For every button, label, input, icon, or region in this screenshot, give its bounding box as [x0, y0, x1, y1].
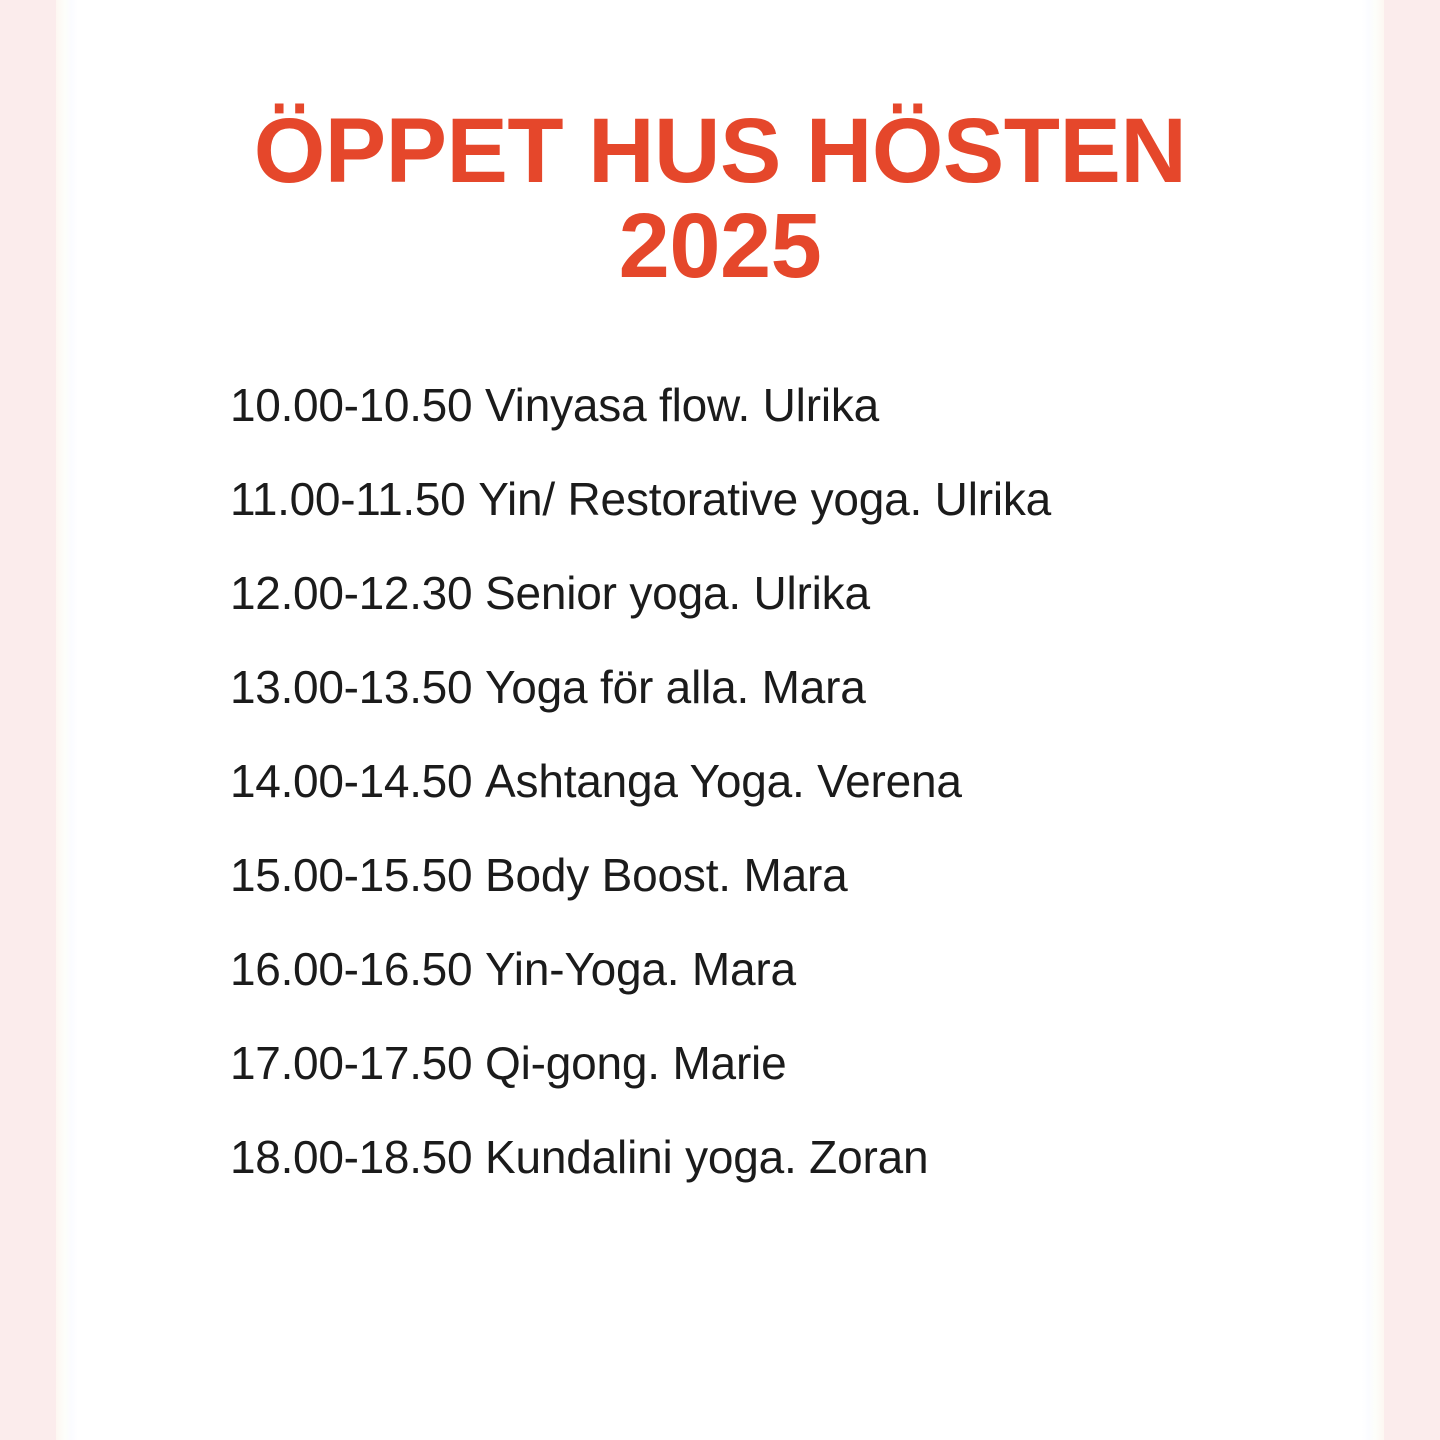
schedule-time: 12.00-12.30 [230, 565, 472, 621]
schedule-row: 14.00-14.50 Ashtanga Yoga. Verena [230, 734, 1344, 828]
schedule-description: Yin/ Restorative yoga. Ulrika [478, 471, 1051, 527]
schedule-description: Vinyasa flow. Ulrika [485, 377, 879, 433]
schedule-description: Body Boost. Mara [485, 847, 847, 903]
page-title: ÖPPET HUS HÖSTEN 2025 [56, 104, 1384, 294]
schedule-description: Yoga för alla. Mara [485, 659, 866, 715]
schedule-description: Kundalini yoga. Zoran [485, 1129, 928, 1185]
schedule-separator [472, 941, 485, 997]
schedule-row: 12.00-12.30 Senior yoga. Ulrika [230, 546, 1344, 640]
schedule-row: 11.00-11.50 Yin/ Restorative yoga. Ulrik… [230, 452, 1344, 546]
schedule-separator [472, 377, 485, 433]
schedule-time: 17.00-17.50 [230, 1035, 472, 1091]
schedule-description: Ashtanga Yoga. Verena [485, 753, 962, 809]
schedule-separator [472, 565, 485, 621]
left-edge-band [0, 0, 56, 1440]
schedule-time: 13.00-13.50 [230, 659, 472, 715]
schedule-time: 11.00-11.50 [230, 471, 465, 527]
schedule-time: 15.00-15.50 [230, 847, 472, 903]
poster-canvas: ÖPPET HUS HÖSTEN 2025 10.00-10.50 Vinyas… [0, 0, 1440, 1440]
schedule-row: 13.00-13.50 Yoga för alla. Mara [230, 640, 1344, 734]
schedule-separator [472, 847, 485, 903]
schedule-row: 10.00-10.50 Vinyasa flow. Ulrika [230, 358, 1344, 452]
schedule-time: 18.00-18.50 [230, 1129, 472, 1185]
right-edge-band [1384, 0, 1440, 1440]
schedule-time: 16.00-16.50 [230, 941, 472, 997]
schedule-description: Yin-Yoga. Mara [485, 941, 796, 997]
schedule-separator [472, 1035, 485, 1091]
schedule-description: Qi-gong. Marie [485, 1035, 786, 1091]
schedule-separator [465, 471, 478, 527]
schedule-time: 10.00-10.50 [230, 377, 472, 433]
schedule-row: 18.00-18.50 Kundalini yoga. Zoran [230, 1110, 1344, 1204]
schedule-time: 14.00-14.50 [230, 753, 472, 809]
schedule-separator [472, 1129, 485, 1185]
schedule-separator [472, 753, 485, 809]
schedule-row: 15.00-15.50 Body Boost. Mara [230, 828, 1344, 922]
schedule-list: 10.00-10.50 Vinyasa flow. Ulrika 11.00-1… [230, 358, 1344, 1204]
schedule-description: Senior yoga. Ulrika [485, 565, 870, 621]
schedule-row: 17.00-17.50 Qi-gong. Marie [230, 1016, 1344, 1110]
schedule-row: 16.00-16.50 Yin-Yoga. Mara [230, 922, 1344, 1016]
schedule-separator [472, 659, 485, 715]
poster-content: ÖPPET HUS HÖSTEN 2025 10.00-10.50 Vinyas… [56, 0, 1384, 1440]
